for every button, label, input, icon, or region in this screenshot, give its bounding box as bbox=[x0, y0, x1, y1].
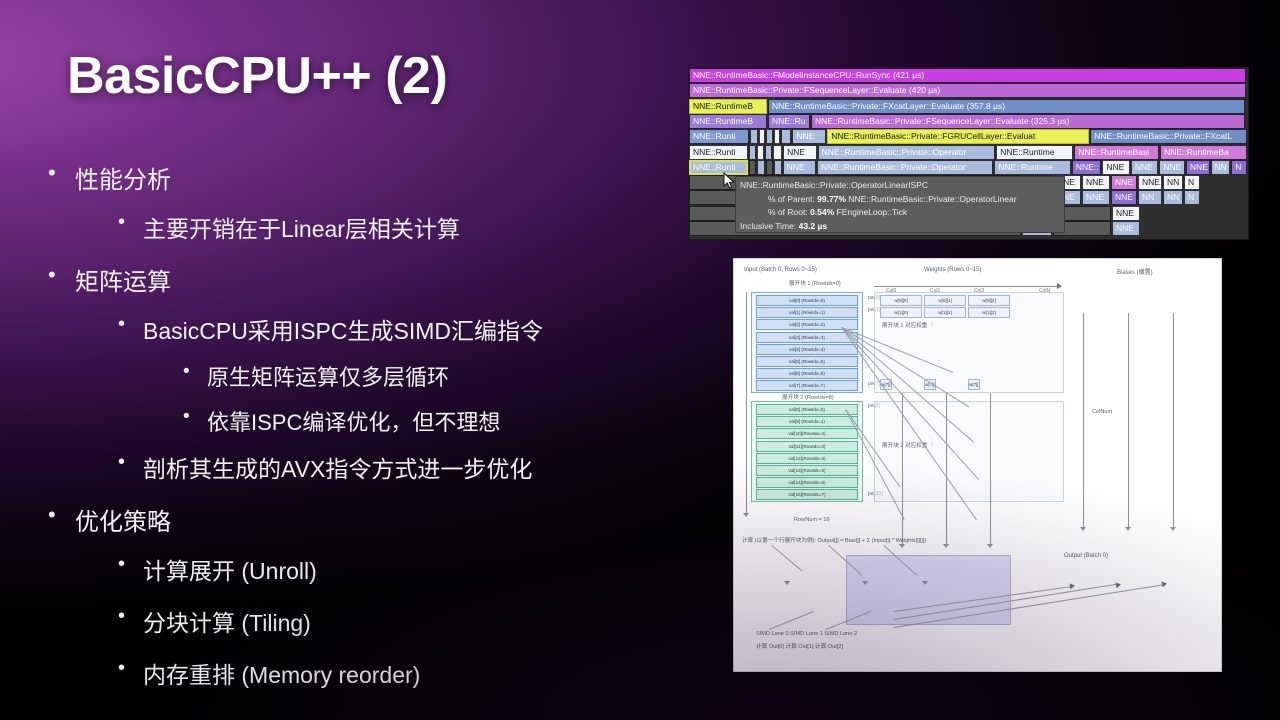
flamegraph-block[interactable] bbox=[750, 129, 758, 144]
lane-connector bbox=[772, 545, 803, 571]
flamegraph-block[interactable]: NNE::RuntimeBasic::Private::FSequenceLay… bbox=[689, 83, 1246, 98]
input-cell: val[10](RowIdx=2) bbox=[756, 428, 858, 439]
input-cell: val[9] (RowIdx=1) bbox=[756, 416, 858, 427]
flamegraph-block[interactable] bbox=[774, 129, 780, 144]
list-item: 剖析其生成的AVX指令方式进一步优化 bbox=[48, 450, 688, 484]
slide-root: BasicCPU++ (2) 性能分析 主要开销在于Linear层相关计算 矩阵… bbox=[0, 0, 1280, 720]
lane-label-connector bbox=[769, 611, 814, 630]
weight-cell: w[0][2] bbox=[968, 295, 1010, 306]
list-item-label: 计算展开 (Unroll) bbox=[143, 552, 317, 586]
input-cell: val[3] (RowIdx=3) bbox=[756, 332, 858, 343]
flamegraph-block[interactable]: NNE bbox=[1186, 160, 1210, 175]
list-item-label: 内存重排 (Memory reorder) bbox=[143, 656, 420, 690]
list-item-label: 性能分析 bbox=[75, 160, 171, 195]
flamegraph-block[interactable]: NNE bbox=[1112, 206, 1140, 221]
flamegraph-block[interactable] bbox=[749, 160, 756, 175]
annotation-block1-weights: 展开块 1 对应权重 bbox=[882, 321, 927, 329]
input-cell: val[8] (RowIdx=0) bbox=[756, 404, 858, 415]
flamegraph-panel: NNE::RuntimeBasic::FModelInstanceCPU::Ru… bbox=[688, 67, 1249, 240]
flamegraph-block[interactable]: N bbox=[1184, 190, 1200, 205]
flamegraph-block[interactable]: NNE bbox=[1111, 190, 1137, 205]
bullet-dot-icon bbox=[118, 604, 143, 626]
list-item: 依靠ISPC编译优化，但不理想 bbox=[48, 405, 688, 437]
list-item: 计算展开 (Unroll) bbox=[48, 552, 688, 586]
list-item: 原生矩阵运算仅多层循环 bbox=[48, 360, 688, 392]
list-item-label: 原生矩阵运算仅多层循环 bbox=[207, 360, 449, 392]
weight-col-arrow-0-icon bbox=[899, 544, 905, 548]
annotation-lanes-2: 计算 Out[0] 计算 Out[1] 计算 Out[2] bbox=[756, 642, 843, 650]
diagram-weights-header: Weights (Rows 0~15) bbox=[924, 267, 981, 273]
annotation-rownum: RowNum = 16 bbox=[794, 517, 830, 523]
annotation-lanes-1: SIMD Lane 0 SIMD Lane 1 SIMD Lane 2 bbox=[756, 631, 857, 637]
flamegraph-block[interactable]: NNE::Runti bbox=[689, 129, 749, 144]
col-axis-line bbox=[874, 286, 1059, 287]
list-item-label: 分块计算 (Tiling) bbox=[143, 604, 311, 638]
diagram-output-header: Output (Batch 0) bbox=[1064, 553, 1108, 559]
tooltip-title: NNE::RuntimeBasic::Private::OperatorLine… bbox=[740, 179, 1060, 193]
lane-arrow-icon bbox=[784, 581, 790, 585]
list-item-label: BasicCPU采用ISPC生成SIMD汇编指令 bbox=[143, 312, 543, 346]
flamegraph-block[interactable]: NNE::RuntimeBa bbox=[1160, 145, 1247, 160]
bullet-dot-icon bbox=[118, 450, 143, 472]
bias-arrow-0-icon bbox=[1080, 527, 1086, 531]
tooltip-parent-label: % of Parent: bbox=[768, 194, 815, 204]
list-item: 优化策略 bbox=[48, 502, 688, 537]
annotation-block1: 展开块 1 (RowIdx=0) bbox=[789, 279, 841, 287]
simd-lane-box bbox=[846, 555, 1011, 625]
weight-cell: w[1][0] bbox=[880, 307, 922, 318]
flamegraph-block[interactable] bbox=[766, 129, 774, 144]
flamegraph-block[interactable]: NNE bbox=[1082, 190, 1110, 205]
bullet-list: 性能分析 主要开销在于Linear层相关计算 矩阵运算 BasicCPU采用IS… bbox=[48, 160, 688, 696]
out-arrow-1-icon bbox=[1116, 582, 1122, 589]
flamegraph-block[interactable]: NNE bbox=[792, 129, 826, 144]
bullet-dot-icon bbox=[118, 210, 143, 232]
flamegraph-block[interactable]: NNE bbox=[1082, 175, 1110, 190]
flamegraph-tooltip: NNE::RuntimeBasic::Private::OperatorLine… bbox=[735, 176, 1065, 233]
weight-col-line-1 bbox=[946, 393, 947, 545]
out-arrow-0-icon bbox=[1070, 583, 1076, 590]
flamegraph-row: NNE::RuntiNNENNE::RuntimeBasic::Private:… bbox=[689, 145, 1248, 160]
flamegraph-block[interactable]: NNE::RuntimeBasic::FModelInstanceCPU::Ru… bbox=[689, 68, 1246, 83]
col-axis-arrow-icon bbox=[1057, 283, 1062, 289]
bullet-dot-icon bbox=[118, 656, 143, 678]
tooltip-parent-row: % of Parent: 99.77% NNE::RuntimeBasic::P… bbox=[740, 193, 1060, 207]
flamegraph-block[interactable]: NNE bbox=[1138, 175, 1162, 190]
bias-line-1 bbox=[1128, 313, 1129, 528]
weights-ellipsis: ⋮ bbox=[930, 441, 935, 447]
flamegraph-block[interactable]: NNE::RuntimeBasic::Private::FSequenceLay… bbox=[811, 114, 1245, 129]
input-cell: val[4] (RowIdx=4) bbox=[756, 344, 858, 355]
flamegraph-block[interactable]: N bbox=[1184, 175, 1200, 190]
bullet-dot-icon bbox=[118, 312, 143, 334]
weight-cell: w[0][1] bbox=[924, 295, 966, 306]
bias-arrow-2-icon bbox=[1170, 527, 1176, 531]
page-title: BasicCPU++ (2) bbox=[67, 46, 447, 106]
flamegraph-row: NNE::RuntiNNENNE::RuntimeBasic::Private:… bbox=[689, 160, 1248, 175]
input-cell: val[11](RowIdx=3) bbox=[756, 441, 858, 452]
weight-col-arrow-1-icon bbox=[943, 544, 949, 548]
flamegraph-block[interactable]: NN bbox=[1138, 190, 1162, 205]
flamegraph-block[interactable] bbox=[757, 145, 764, 160]
flamegraph-row: NNE::RuntimeBasic::Private::FSequenceLay… bbox=[689, 83, 1248, 98]
simd-matmul-diagram: Input (Batch 0, Rows 0~15) Weights (Rows… bbox=[733, 258, 1222, 672]
list-item: 主要开销在于Linear层相关计算 bbox=[48, 210, 688, 244]
lane-arrow-icon bbox=[862, 581, 868, 585]
tooltip-inclusive-value: 43.2 µs bbox=[799, 221, 828, 231]
bias-line-2 bbox=[1173, 313, 1174, 528]
flamegraph-row: NNE::RuntimeBNNE::RuntimeBasic::Private:… bbox=[689, 99, 1248, 114]
list-item: 分块计算 (Tiling) bbox=[48, 604, 688, 638]
input-cell: val[14](RowIdx=6) bbox=[756, 477, 858, 488]
flamegraph-block[interactable]: NNE bbox=[783, 160, 816, 175]
flamegraph-block[interactable]: NNE::RuntimeB bbox=[689, 99, 767, 114]
bullet-dot-icon bbox=[183, 360, 207, 381]
flamegraph-block[interactable]: NNE:: bbox=[1072, 160, 1101, 175]
out-arrow-2-icon bbox=[1162, 581, 1168, 588]
annotation-colnum: ColNum bbox=[1092, 409, 1112, 415]
flamegraph-block[interactable] bbox=[765, 145, 772, 160]
tooltip-parent-value: 99.77% bbox=[817, 194, 846, 204]
input-cell: val[12](RowIdx=4) bbox=[756, 453, 858, 464]
input-cell: val[1] (RowIdx=1) bbox=[756, 307, 858, 318]
mouse-cursor-icon bbox=[723, 172, 735, 190]
flamegraph-block[interactable] bbox=[773, 145, 782, 160]
input-cell: val[6] (RowIdx=6) bbox=[756, 368, 858, 379]
flamegraph-block[interactable]: NNE::Ru bbox=[768, 114, 810, 129]
weights-ellipsis: ⋮ bbox=[930, 321, 935, 327]
input-cell: val[0] (RowIdx=0) bbox=[756, 295, 858, 306]
list-item-label: 剖析其生成的AVX指令方式进一步优化 bbox=[143, 450, 532, 484]
flamegraph-block[interactable]: NNE::RuntimeBasic::Private::FXcatLayer::… bbox=[768, 99, 1245, 114]
flamegraph-block[interactable]: NNE::RuntimeBasic::Private::Operator bbox=[818, 145, 996, 160]
flamegraph-block[interactable]: NNE bbox=[1112, 221, 1140, 236]
list-item: BasicCPU采用ISPC生成SIMD汇编指令 bbox=[48, 312, 688, 346]
weight-col-line-2 bbox=[990, 393, 991, 545]
flamegraph-block[interactable]: NNE::RuntimeBasic::Private::FXcatL bbox=[1090, 129, 1247, 144]
weight-cell: w[7][2] bbox=[968, 379, 980, 390]
flamegraph-row: NNE::RuntimeBNNE::RuNNE::RuntimeBasic::P… bbox=[689, 114, 1248, 129]
input-cell: val[5] (RowIdx=5) bbox=[756, 356, 858, 367]
flamegraph-block[interactable]: NNE bbox=[1102, 160, 1130, 175]
flamegraph-block[interactable] bbox=[759, 129, 765, 144]
tooltip-inclusive-row: Inclusive Time: 43.2 µs bbox=[740, 220, 1060, 234]
flamegraph-block[interactable]: NNE::Runti bbox=[689, 145, 748, 160]
flamegraph-block[interactable] bbox=[766, 160, 773, 175]
flamegraph-row: NNE::RuntimeBasic::FModelInstanceCPU::Ru… bbox=[689, 68, 1248, 83]
flamegraph-block[interactable]: NNE bbox=[783, 145, 817, 160]
flamegraph-block[interactable]: N bbox=[1231, 160, 1247, 175]
flamegraph-block[interactable]: NNE bbox=[1131, 160, 1159, 175]
list-item-label: 依靠ISPC编译优化，但不理想 bbox=[207, 405, 500, 437]
lane-arrow-icon bbox=[922, 581, 928, 585]
tooltip-root-value: 0.54% bbox=[810, 207, 834, 217]
flamegraph-block[interactable]: NN bbox=[1211, 160, 1231, 175]
tooltip-root-rest: FEngineLoop::Tick bbox=[837, 207, 908, 217]
flamegraph-block[interactable] bbox=[757, 160, 765, 175]
input-cell: val[15](RowIdx=7) bbox=[756, 489, 858, 500]
tooltip-inclusive-label: Inclusive Time: bbox=[740, 221, 796, 231]
input-cell: val[13](RowIdx=5) bbox=[756, 465, 858, 476]
flamegraph-block[interactable]: NNE::Runtime bbox=[994, 160, 1070, 175]
tooltip-root-row: % of Root: 0.54% FEngineLoop::Tick bbox=[740, 206, 1060, 220]
row-axis-line bbox=[746, 292, 747, 514]
list-item: 内存重排 (Memory reorder) bbox=[48, 656, 688, 690]
bias-arrow-1-icon bbox=[1125, 527, 1131, 531]
flamegraph-block[interactable]: NNE::RuntimeBasi bbox=[1074, 145, 1159, 160]
flamegraph-block[interactable] bbox=[749, 145, 756, 160]
list-item: 性能分析 bbox=[48, 160, 688, 195]
flamegraph-block[interactable]: NNE::RuntimeBasic::Private::Operator bbox=[817, 160, 993, 175]
annotation-block2-weights: 展开块 2 对应权重 bbox=[882, 441, 927, 449]
flamegraph-block[interactable]: NNE bbox=[1159, 160, 1185, 175]
weight-cell: w[1][1] bbox=[924, 307, 966, 318]
bias-line-0 bbox=[1083, 313, 1084, 528]
flamegraph-block[interactable] bbox=[781, 129, 791, 144]
bullet-dot-icon bbox=[48, 502, 75, 526]
annotation-block2: 展开块 2 (RowIdx=8) bbox=[782, 393, 834, 401]
flamegraph-block[interactable]: NNE bbox=[1111, 175, 1137, 190]
tooltip-parent-rest: NNE::RuntimeBasic::Private::OperatorLine… bbox=[848, 194, 1016, 204]
flamegraph-block[interactable]: NNE::Runti bbox=[689, 160, 748, 175]
weight-cell: w[1][2] bbox=[968, 307, 1010, 318]
list-item: 矩阵运算 bbox=[48, 262, 688, 297]
weight-cell: w[0][0] bbox=[880, 295, 922, 306]
bullet-dot-icon bbox=[48, 262, 75, 286]
flamegraph-block[interactable]: NNE::RuntimeBasic::Private::FGRUCellLaye… bbox=[827, 129, 1089, 144]
row-axis-arrow-icon bbox=[743, 513, 749, 517]
flamegraph-block[interactable] bbox=[774, 160, 782, 175]
bullet-dot-icon bbox=[183, 405, 207, 426]
bullet-dot-icon bbox=[48, 160, 75, 184]
flamegraph-block[interactable]: NNE::Runtime bbox=[996, 145, 1073, 160]
list-item-label: 矩阵运算 bbox=[75, 262, 171, 297]
tooltip-root-label: % of Root: bbox=[768, 207, 808, 217]
flamegraph-block[interactable]: NNE::RuntimeB bbox=[689, 114, 767, 129]
flamegraph-block[interactable]: NN bbox=[1163, 175, 1183, 190]
diagram-biases-header: Biases (橫置) bbox=[1117, 267, 1153, 276]
annotation-formula: 计算 (以第一个行展开块为例): Output[j] = Bias[j] + Σ… bbox=[742, 536, 926, 544]
input-cell: val[7] (RowIdx=7) bbox=[756, 380, 858, 391]
bullet-dot-icon bbox=[118, 552, 143, 574]
flamegraph-block[interactable]: NN bbox=[1163, 190, 1183, 205]
weight-col-arrow-2-icon bbox=[987, 544, 993, 548]
list-item-label: 主要开销在于Linear层相关计算 bbox=[143, 210, 460, 244]
diagram-input-header: Input (Batch 0, Rows 0~15) bbox=[744, 267, 817, 273]
flamegraph-row: NNE::RuntiNNENNE::RuntimeBasic::Private:… bbox=[689, 129, 1248, 144]
list-item-label: 优化策略 bbox=[75, 502, 171, 537]
